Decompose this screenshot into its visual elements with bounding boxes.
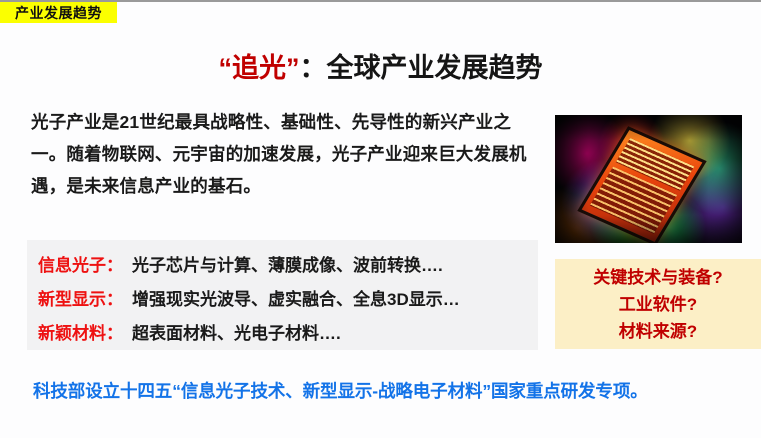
category-value: 光子芯片与计算、薄膜成像、波前转换…. bbox=[132, 251, 443, 276]
section-tag-label: 产业发展趋势 bbox=[15, 3, 102, 23]
chip-vignette-overlay bbox=[555, 115, 742, 243]
category-label: 信息光子： bbox=[38, 251, 123, 276]
question-line-material-source: 材料来源? bbox=[619, 318, 697, 345]
category-value: 超表面材料、光电子材料…. bbox=[132, 319, 341, 344]
page-title-highlight: “追光” bbox=[219, 53, 300, 83]
category-row-new-display: 新型显示： 增强现实光波导、虚实融合、全息3D显示… bbox=[38, 285, 460, 310]
photonic-chip-photo bbox=[555, 115, 742, 243]
footnote-statement: 科技部设立十四五“信息光子技术、新型显示-战略电子材料”国家重点研发专项。 bbox=[33, 378, 759, 403]
category-label: 新型显示： bbox=[38, 285, 123, 310]
key-questions-box: 关键技术与装备? 工业软件? 材料来源? bbox=[555, 259, 761, 349]
category-list-panel: 信息光子： 光子芯片与计算、薄膜成像、波前转换…. 新型显示： 增强现实光波导、… bbox=[27, 240, 538, 350]
category-row-novel-materials: 新颖材料： 超表面材料、光电子材料…. bbox=[38, 319, 341, 344]
page-title: “追光”：全球产业发展趋势 bbox=[0, 46, 761, 85]
intro-paragraph: 光子产业是21世纪最具战略性、基础性、先导性的新兴产业之一。随着物联网、元宇宙的… bbox=[31, 106, 536, 202]
category-value: 增强现实光波导、虚实融合、全息3D显示… bbox=[132, 285, 460, 310]
page-title-rest: ：全球产业发展趋势 bbox=[300, 53, 543, 83]
category-row-information-photonics: 信息光子： 光子芯片与计算、薄膜成像、波前转换…. bbox=[38, 251, 443, 276]
section-tag-badge: 产业发展趋势 bbox=[0, 2, 117, 23]
slide-canvas: 产业发展趋势 “追光”：全球产业发展趋势 光子产业是21世纪最具战略性、基础性、… bbox=[0, 0, 761, 438]
question-line-industrial-software: 工业软件? bbox=[619, 291, 697, 318]
category-label: 新颖材料： bbox=[38, 319, 123, 344]
question-line-key-tech: 关键技术与装备? bbox=[593, 264, 722, 291]
